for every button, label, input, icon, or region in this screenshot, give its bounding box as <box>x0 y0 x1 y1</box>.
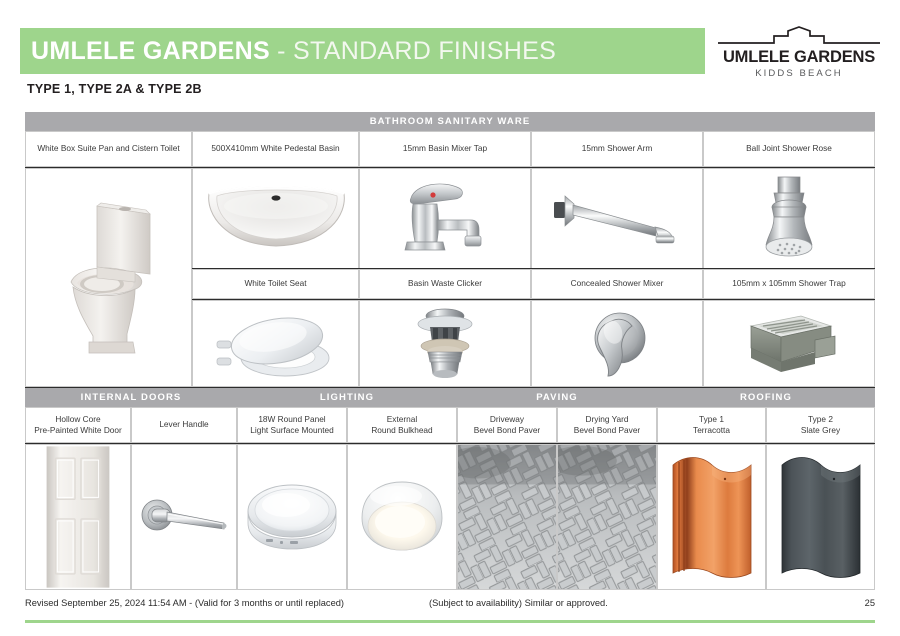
paver-texture-icon <box>558 445 656 589</box>
finishes-schedule-page: UMLELE GARDENS - STANDARD FINISHES UMLEL… <box>0 0 900 636</box>
image-shower-trap <box>703 300 875 387</box>
section-header-paving: PAVING <box>457 388 657 407</box>
page-title-bold: UMLELE GARDENS <box>31 37 270 65</box>
section-header-internal-doors: INTERNAL DOORS <box>25 388 237 407</box>
label-round-panel-light: 18W Round Panel Light Surface Mounted <box>237 407 347 443</box>
shower-trap-icon <box>739 308 839 380</box>
label-shower-arm: 15mm Shower Arm <box>531 131 703 167</box>
image-shower-rose <box>703 168 875 269</box>
round-panel-light-icon <box>244 481 340 553</box>
image-hollow-core-door <box>25 444 131 590</box>
footer-revised-text: Revised September 25, 2024 11:54 AM - (V… <box>25 598 344 608</box>
roof-tile-slate-grey-icon <box>776 453 866 581</box>
label-shower-trap: 105mm x 105mm Shower Trap <box>703 269 875 299</box>
label-roof-tile-type1: Type 1 Terracotta <box>657 407 766 443</box>
house-outline-icon <box>716 26 882 48</box>
shower-arm-icon <box>552 188 682 250</box>
section-header-bathroom: BATHROOM SANITARY WARE <box>25 112 875 131</box>
label-basin: 500X410mm White Pedestal Basin <box>192 131 359 167</box>
label-toilet-seat: White Toilet Seat <box>192 269 359 299</box>
waste-clicker-icon <box>412 304 478 384</box>
footer-accent-line <box>25 620 875 623</box>
image-mixer-tap <box>359 168 531 269</box>
label-basin-waste-clicker: Basin Waste Clicker <box>359 269 531 299</box>
page-title: UMLELE GARDENS - STANDARD FINISHES <box>31 37 556 66</box>
round-bulkhead-icon <box>354 478 450 556</box>
image-basin-waste-clicker <box>359 300 531 387</box>
label-round-bulkhead: External Round Bulkhead <box>347 407 457 443</box>
label-mixer-tap: 15mm Basin Mixer Tap <box>359 131 531 167</box>
shower-mixer-icon <box>580 306 654 382</box>
shower-rose-icon <box>754 173 824 265</box>
image-round-panel-light <box>237 444 347 590</box>
label-roof-tile-type2: Type 2 Slate Grey <box>766 407 875 443</box>
image-drying-yard-paver <box>557 444 657 590</box>
image-toilet <box>25 168 192 387</box>
section-header-lighting: LIGHTING <box>237 388 457 407</box>
page-footer: Revised September 25, 2024 11:54 AM - (V… <box>25 598 875 614</box>
toilet-seat-icon <box>211 308 341 380</box>
basin-icon <box>201 180 351 258</box>
label-drying-yard-paver: Drying Yard Bevel Bond Paver <box>557 407 657 443</box>
door-icon <box>26 445 130 589</box>
image-driveway-paver <box>457 444 557 590</box>
image-lever-handle <box>131 444 237 590</box>
logo-subtitle: KIDDS BEACH <box>755 69 843 79</box>
label-toilet: White Box Suite Pan and Cistern Toilet <box>25 131 192 167</box>
footer-page-number: 25 <box>865 598 875 608</box>
lever-handle-icon <box>138 493 230 541</box>
image-shower-arm <box>531 168 703 269</box>
type-subtitle: TYPE 1, TYPE 2A & TYPE 2B <box>27 82 202 96</box>
label-driveway-paver: Driveway Bevel Bond Paver <box>457 407 557 443</box>
image-concealed-shower-mixer <box>531 300 703 387</box>
logo-name: UMLELE GARDENS <box>723 49 875 66</box>
image-basin <box>192 168 359 269</box>
label-shower-rose: Ball Joint Shower Rose <box>703 131 875 167</box>
toilet-icon <box>49 190 169 365</box>
image-roof-tile-slate-grey <box>766 444 875 590</box>
footer-disclaimer-text: (Subject to availability) Similar or app… <box>429 598 608 608</box>
image-round-bulkhead <box>347 444 457 590</box>
mixer-tap-icon <box>397 176 493 262</box>
label-hollow-core-door: Hollow Core Pre-Painted White Door <box>25 407 131 443</box>
section-header-roofing: ROOFING <box>657 388 875 407</box>
finishes-table: BATHROOM SANITARY WARE White Box Suite P… <box>25 112 875 590</box>
label-concealed-shower-mixer: Concealed Shower Mixer <box>531 269 703 299</box>
image-toilet-seat <box>192 300 359 387</box>
image-roof-tile-terracotta <box>657 444 766 590</box>
company-logo: UMLELE GARDENS KIDDS BEACH <box>714 26 884 78</box>
paver-texture-icon <box>458 445 556 589</box>
label-lever-handle: Lever Handle <box>131 407 237 443</box>
page-header-band: UMLELE GARDENS - STANDARD FINISHES <box>20 28 705 74</box>
roof-tile-terracotta-icon <box>667 453 757 581</box>
page-title-light: - STANDARD FINISHES <box>270 37 556 65</box>
